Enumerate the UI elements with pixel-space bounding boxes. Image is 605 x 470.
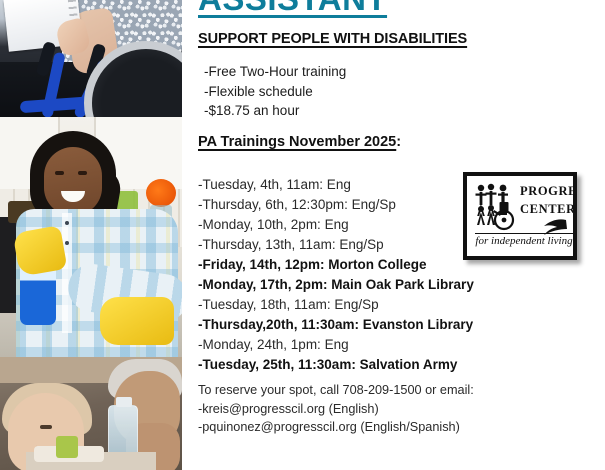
eye-left	[55, 171, 64, 175]
elderly-woman-with-caregiver-photo	[0, 357, 182, 470]
perk-item: -Free Two-Hour training	[204, 62, 504, 82]
orange-flower	[146, 179, 176, 207]
contact-phone-line: To reserve your spot, call 708-209-1500 …	[198, 381, 538, 400]
shirt-button	[65, 221, 69, 225]
wheelchair-user-with-notebook-photo	[0, 0, 182, 117]
water-bottle-cap	[116, 397, 132, 407]
perk-item: -$18.75 an hour	[204, 101, 504, 121]
photo-column	[0, 0, 182, 470]
trainings-heading-colon: :	[396, 134, 401, 150]
trainings-heading-text: PA Trainings November 2025	[198, 134, 396, 150]
progress-center-logo: PROGRESS CENTER for independent living	[463, 172, 577, 260]
contact-email-bilingual: -pquinonez@progresscil.org (English/Span…	[198, 418, 538, 437]
page-title: ASSISTANT	[198, 0, 387, 18]
yellow-glove-left	[13, 225, 68, 277]
flyer-page: ASSISTANT SUPPORT PEOPLE WITH DISABILITI…	[0, 0, 605, 470]
logo-wordmark: PROGRESS CENTER	[520, 184, 577, 217]
training-row: -Thursday,20th, 11:30am: Evanston Librar…	[198, 315, 528, 335]
shirt-placket	[62, 213, 72, 333]
people-and-wheelchair-icon	[474, 183, 520, 231]
elderly-woman-eye	[40, 425, 52, 429]
contact-block: To reserve your spot, call 708-209-1500 …	[198, 381, 538, 437]
perk-item: -Flexible schedule	[204, 82, 504, 102]
logo-line-center: CENTER	[520, 202, 577, 217]
shirt-button	[65, 241, 69, 245]
perks-list: -Free Two-Hour training -Flexible schedu…	[204, 62, 504, 121]
trainings-section-heading: PA Trainings November 2025:	[198, 134, 401, 150]
flyer-text-content: ASSISTANT SUPPORT PEOPLE WITH DISABILITI…	[182, 0, 605, 470]
yellow-glove-right	[100, 297, 174, 345]
training-row: -Monday, 24th, 1pm: Eng	[198, 335, 528, 355]
logo-tagline: for independent living	[475, 233, 573, 247]
logo-inner-panel: PROGRESS CENTER for independent living	[470, 179, 570, 253]
training-row: -Monday, 17th, 2pm: Main Oak Park Librar…	[198, 275, 528, 295]
caregiver-cleaning-kitchen-photo	[0, 117, 182, 357]
eye-right	[78, 171, 87, 175]
page-subtitle: SUPPORT PEOPLE WITH DISABILITIES	[198, 31, 467, 47]
smile	[61, 191, 85, 202]
face	[44, 147, 102, 215]
logo-line-progress: PROGRESS	[520, 184, 577, 199]
training-row: -Tuesday, 18th, 11am: Eng/Sp	[198, 295, 528, 315]
training-row: -Tuesday, 25th, 11:30am: Salvation Army	[198, 355, 528, 375]
contact-email-english: -kreis@progresscil.org (English)	[198, 400, 538, 419]
food-item	[56, 436, 78, 458]
